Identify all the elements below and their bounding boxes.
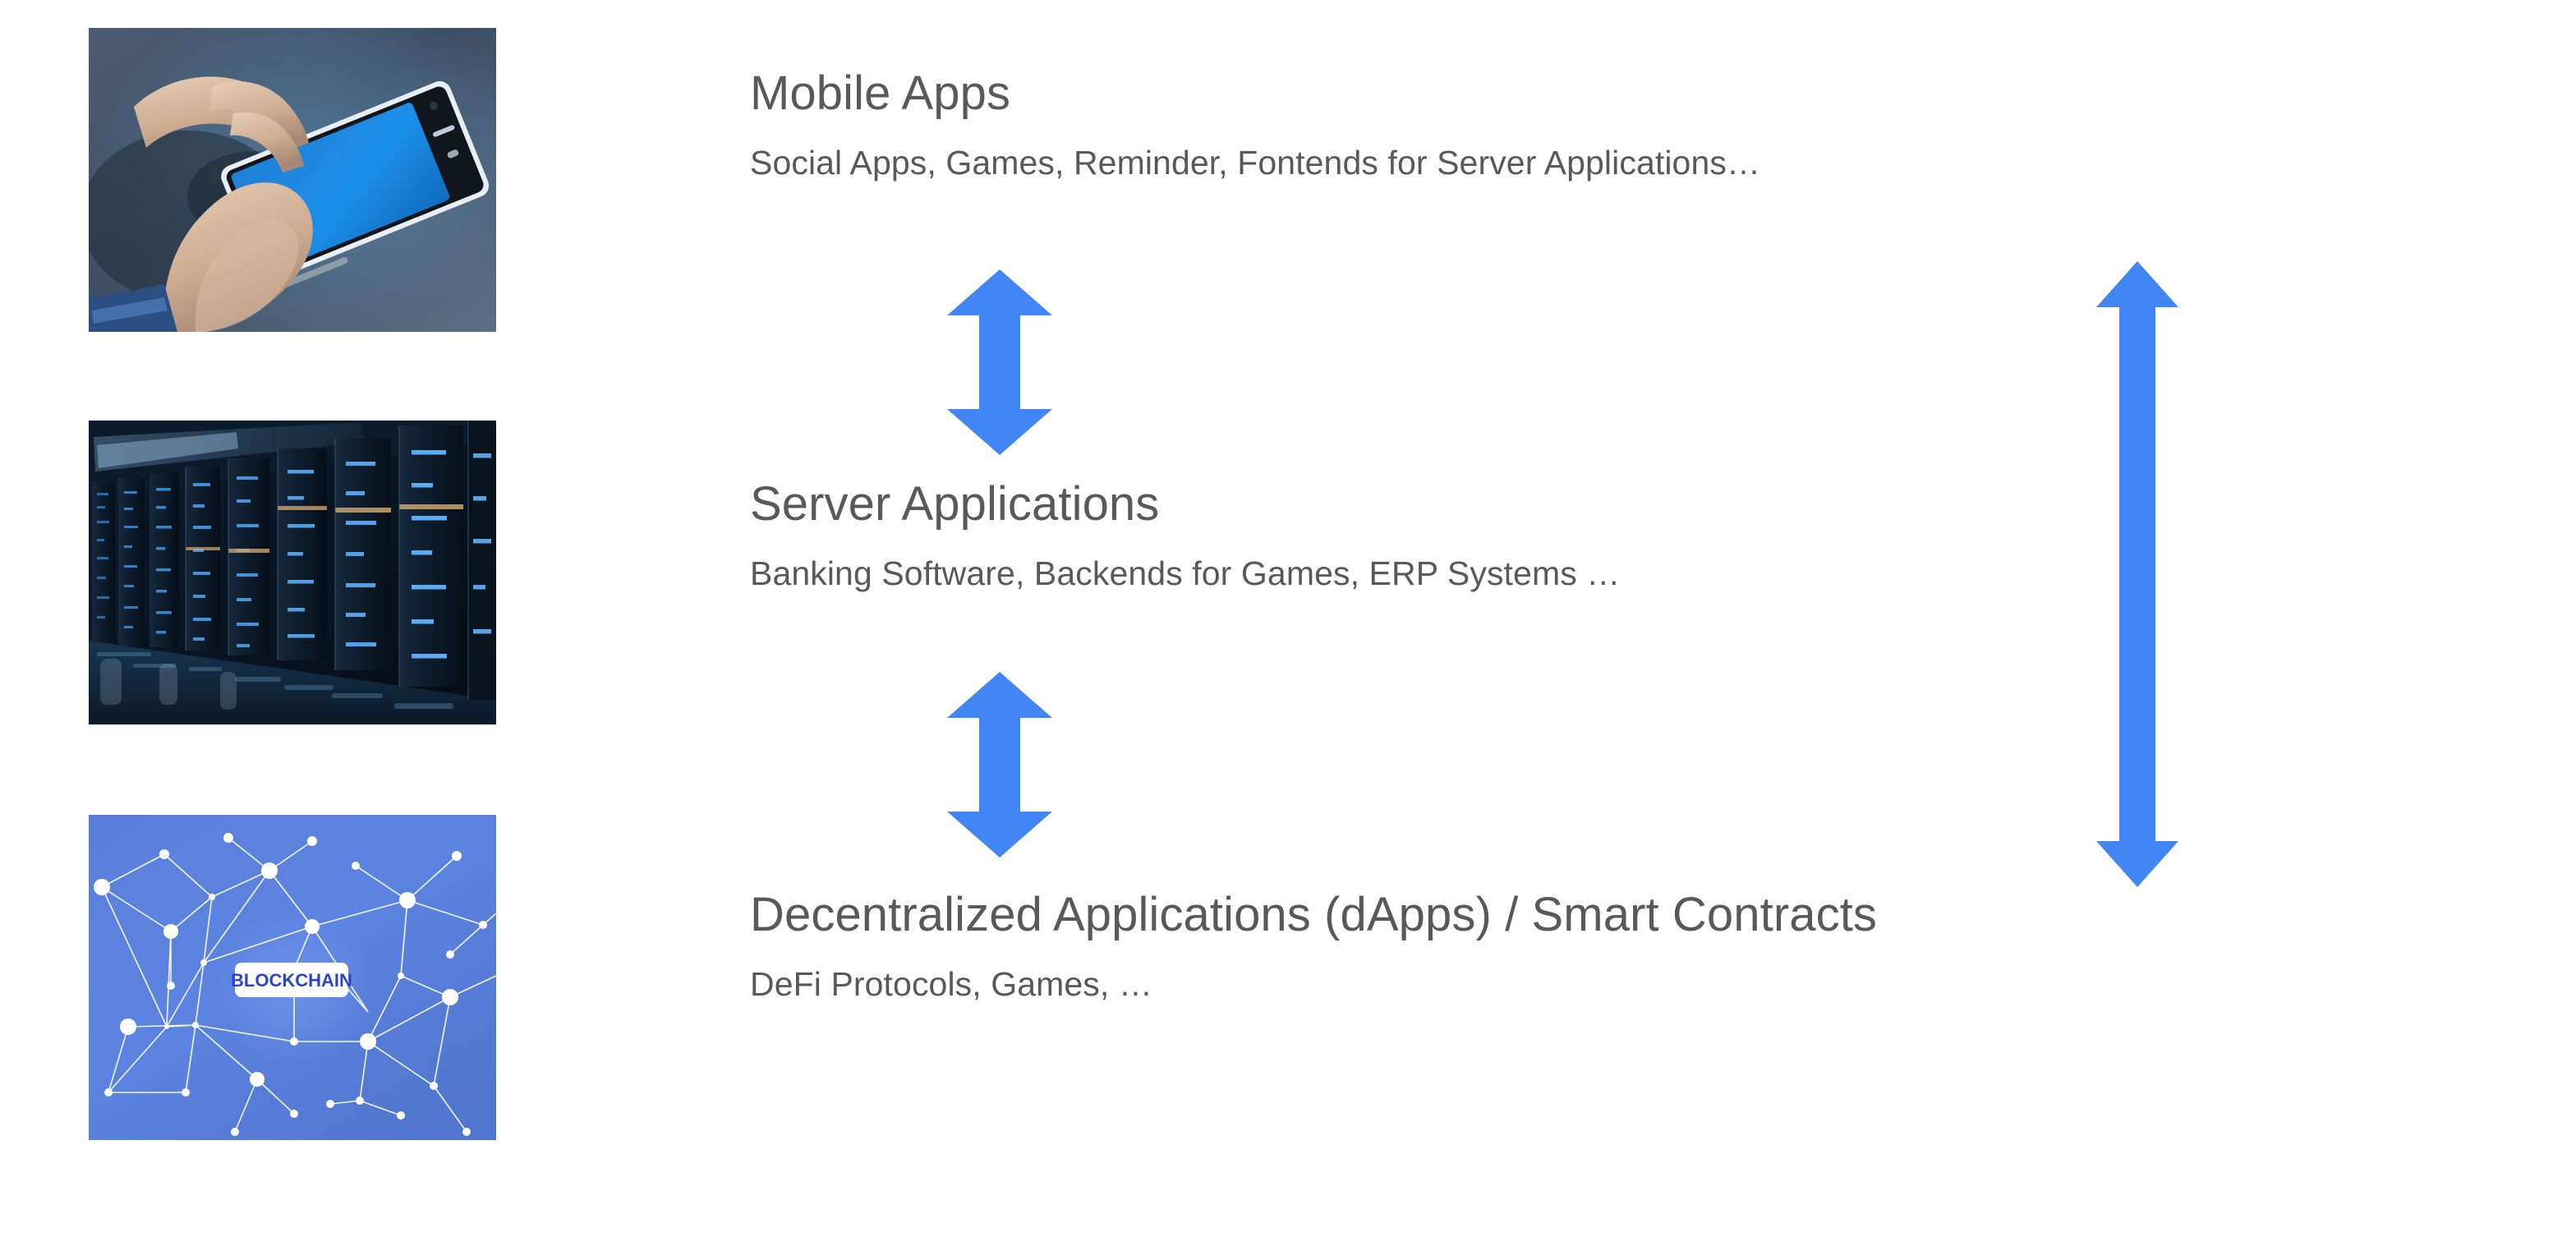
mobile-phone-illustration [89,28,496,332]
subtitle-server-applications: Banking Software, Backends for Games, ER… [750,554,1620,594]
double-arrow-icon [947,269,1052,455]
blockchain-label: BLOCKCHAIN [231,970,352,991]
double-arrow-mobile-to-server[interactable] [947,269,1052,455]
slide-canvas: BLOCKCHAIN Mobile Apps Social Apps, Game… [0,0,2576,1237]
row-server-applications: Server Applications Banking Software, Ba… [750,476,1620,595]
heading-mobile-apps: Mobile Apps [750,66,1760,122]
subtitle-mobile-apps: Social Apps, Games, Reminder, Fontends f… [750,143,1760,183]
server-room-photo[interactable] [89,421,496,724]
blockchain-network-graphic[interactable]: BLOCKCHAIN [89,815,496,1140]
heading-decentralized-applications: Decentralized Applications (dApps) / Sma… [750,887,1877,943]
subtitle-decentralized-applications: DeFi Protocols, Games, … [750,964,1877,1005]
double-arrow-mobile-to-dapps[interactable] [2096,261,2178,887]
double-arrow-icon [947,672,1052,858]
blockchain-network-illustration: BLOCKCHAIN [89,815,496,1140]
server-room-illustration [89,421,496,724]
mobile-phone-photo[interactable] [89,28,496,332]
double-arrow-server-to-dapps[interactable] [947,672,1052,858]
row-mobile-apps: Mobile Apps Social Apps, Games, Reminder… [750,66,1760,184]
double-arrow-icon [2096,261,2178,887]
heading-server-applications: Server Applications [750,476,1620,532]
row-decentralized-applications: Decentralized Applications (dApps) / Sma… [750,887,1877,1005]
